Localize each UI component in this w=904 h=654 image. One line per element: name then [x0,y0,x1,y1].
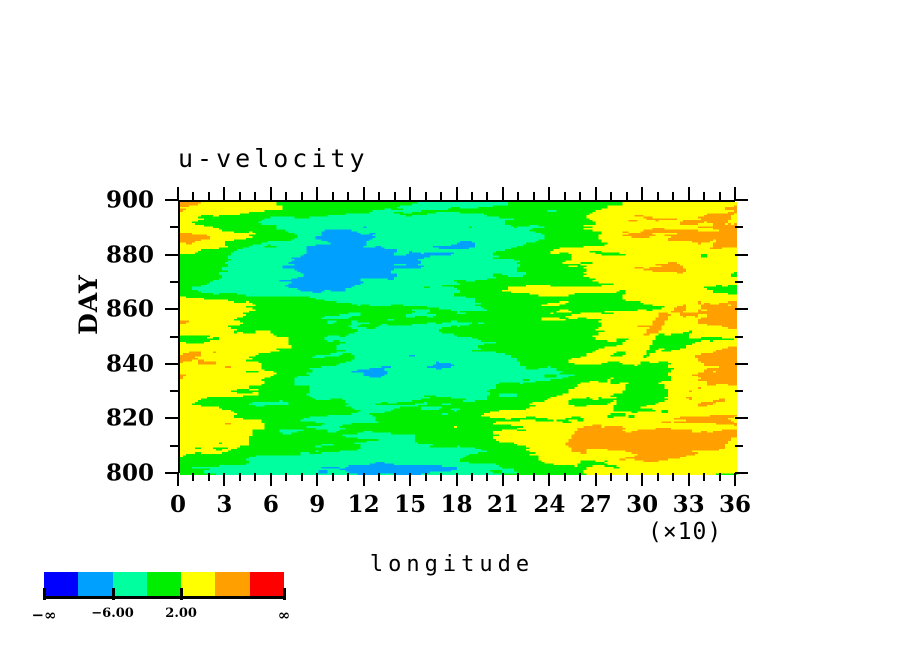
x-major-tick-bottom [223,473,225,486]
x-tick-label: 27 [580,491,612,518]
x-major-tick-top [223,187,225,200]
x-major-tick-top [595,187,597,200]
y-minor-tick-left [170,226,178,228]
x-major-tick-bottom [456,473,458,486]
plot-area [178,200,735,473]
x-major-tick-bottom [363,473,365,486]
x-minor-tick-top [471,192,473,200]
colorbar-label: 2.00 [165,606,197,621]
x-major-tick-bottom [641,473,643,486]
y-minor-tick-right [735,281,743,283]
x-tick-label: 15 [394,491,426,518]
x-minor-tick-bottom [192,473,194,481]
y-minor-tick-left [170,281,178,283]
x-minor-tick-bottom [517,473,519,481]
x-tick-label: 9 [309,491,325,518]
x-axis-multiplier: (×10) [648,519,722,545]
heatmap-canvas [180,202,737,475]
x-minor-tick-bottom [486,473,488,481]
x-minor-tick-bottom [239,473,241,481]
y-tick-label: 820 [54,405,154,432]
y-major-tick-right [735,308,748,310]
colorbar-label: −∞ [31,606,56,624]
y-axis-title: DAY [74,274,103,335]
colorbar-label: ∞ [278,606,291,624]
x-minor-tick-bottom [471,473,473,481]
x-minor-tick-bottom [564,473,566,481]
colorbar-tick [43,588,46,600]
x-major-tick-bottom [316,473,318,486]
x-tick-label: 36 [719,491,751,518]
x-minor-tick-top [254,192,256,200]
colorbar-band [215,572,249,596]
x-minor-tick-bottom [610,473,612,481]
x-minor-tick-top [347,192,349,200]
x-minor-tick-top [285,192,287,200]
x-minor-tick-top [533,192,535,200]
x-major-tick-top [688,187,690,200]
y-tick-label: 880 [54,241,154,268]
colorbar-band [181,572,215,596]
y-major-tick-left [165,308,178,310]
x-minor-tick-top [703,192,705,200]
colorbar-band [78,572,112,596]
y-major-tick-left [165,417,178,419]
x-tick-label: 18 [440,491,472,518]
x-minor-tick-top [378,192,380,200]
x-minor-tick-bottom [394,473,396,481]
x-major-tick-top [409,187,411,200]
x-minor-tick-bottom [208,473,210,481]
y-major-tick-left [165,199,178,201]
x-minor-tick-top [517,192,519,200]
y-major-tick-right [735,472,748,474]
x-major-tick-top [548,187,550,200]
x-minor-tick-top [672,192,674,200]
x-minor-tick-top [610,192,612,200]
hovmoller-figure: u-velocity 03691215182124273033369008808… [0,0,904,654]
x-minor-tick-bottom [285,473,287,481]
x-tick-label: 30 [626,491,658,518]
colorbar-band [250,572,284,596]
x-minor-tick-bottom [626,473,628,481]
x-minor-tick-top [425,192,427,200]
x-minor-tick-bottom [254,473,256,481]
page-title: u-velocity [178,144,369,173]
x-tick-label: 33 [673,491,705,518]
y-major-tick-right [735,199,748,201]
x-major-tick-bottom [734,473,736,486]
x-minor-tick-bottom [332,473,334,481]
x-minor-tick-top [208,192,210,200]
x-major-tick-bottom [177,473,179,486]
y-tick-label: 900 [54,187,154,214]
y-minor-tick-right [735,445,743,447]
x-major-tick-bottom [502,473,504,486]
x-minor-tick-bottom [533,473,535,481]
y-minor-tick-left [170,336,178,338]
y-minor-tick-right [735,390,743,392]
x-minor-tick-bottom [672,473,674,481]
colorbar-label: −6.00 [91,606,134,621]
x-major-tick-top [456,187,458,200]
x-minor-tick-bottom [347,473,349,481]
x-minor-tick-bottom [719,473,721,481]
x-tick-label: 6 [263,491,279,518]
x-major-tick-top [641,187,643,200]
y-tick-label: 840 [54,350,154,377]
x-minor-tick-top [239,192,241,200]
colorbar-band [113,572,147,596]
y-tick-label: 860 [54,296,154,323]
x-minor-tick-bottom [657,473,659,481]
x-minor-tick-bottom [440,473,442,481]
x-minor-tick-top [394,192,396,200]
x-minor-tick-top [657,192,659,200]
x-minor-tick-top [719,192,721,200]
x-tick-label: 3 [216,491,232,518]
x-minor-tick-bottom [301,473,303,481]
x-minor-tick-bottom [703,473,705,481]
x-minor-tick-top [486,192,488,200]
x-minor-tick-top [579,192,581,200]
x-tick-label: 24 [533,491,565,518]
x-major-tick-bottom [595,473,597,486]
y-tick-label: 800 [54,460,154,487]
colorbar-band [147,572,181,596]
colorbar-tick [180,588,183,600]
colorbar [44,572,284,599]
x-major-tick-bottom [688,473,690,486]
x-minor-tick-top [626,192,628,200]
x-major-tick-top [363,187,365,200]
y-major-tick-left [165,254,178,256]
x-minor-tick-bottom [378,473,380,481]
x-minor-tick-bottom [579,473,581,481]
x-minor-tick-top [564,192,566,200]
y-minor-tick-left [170,390,178,392]
y-major-tick-right [735,417,748,419]
x-major-tick-top [502,187,504,200]
y-major-tick-left [165,472,178,474]
y-minor-tick-right [735,226,743,228]
x-minor-tick-top [332,192,334,200]
x-tick-label: 21 [487,491,519,518]
x-minor-tick-top [440,192,442,200]
x-major-tick-top [316,187,318,200]
x-major-tick-bottom [409,473,411,486]
y-minor-tick-left [170,445,178,447]
y-major-tick-left [165,363,178,365]
x-tick-label: 0 [170,491,186,518]
y-minor-tick-right [735,336,743,338]
colorbar-tick [112,588,115,600]
colorbar-band [44,572,78,596]
y-major-tick-right [735,363,748,365]
y-major-tick-right [735,254,748,256]
x-major-tick-top [270,187,272,200]
x-minor-tick-top [301,192,303,200]
x-tick-label: 12 [348,491,380,518]
x-minor-tick-top [192,192,194,200]
x-major-tick-bottom [548,473,550,486]
colorbar-tick [283,588,286,600]
x-major-tick-bottom [270,473,272,486]
x-minor-tick-bottom [425,473,427,481]
